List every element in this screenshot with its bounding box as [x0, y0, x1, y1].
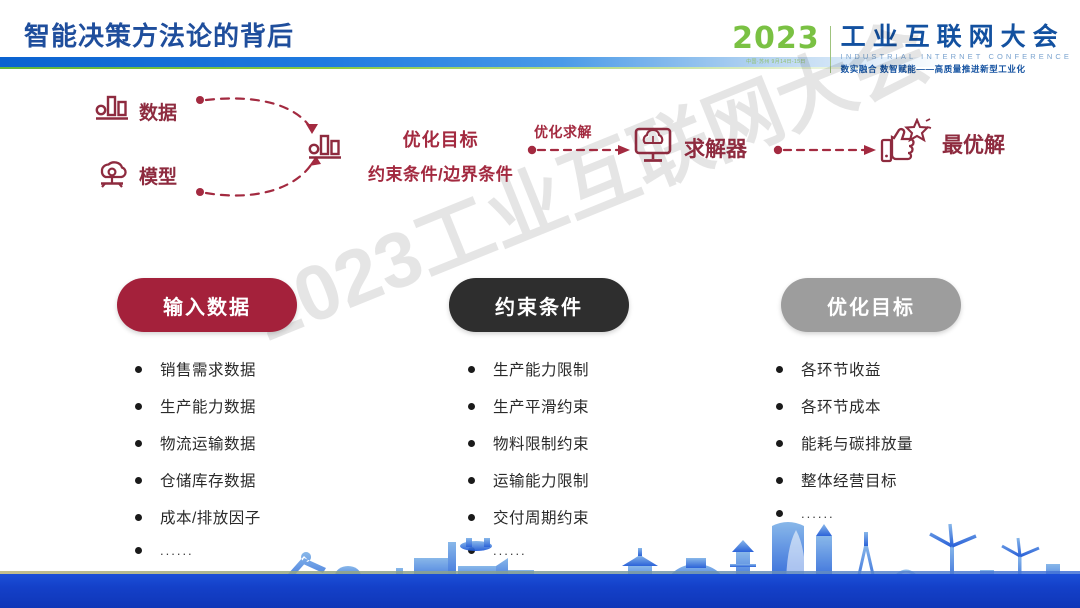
footer-skyline [0, 518, 1080, 608]
model-network-icon [95, 158, 129, 193]
bullet-dot-icon [135, 403, 142, 410]
optimize-solve-label: 优化求解 [534, 122, 592, 142]
skyline-water-band [0, 574, 1080, 608]
list-item: 能耗与碳排放量 [776, 432, 913, 454]
flow-node-model: 模型 [95, 158, 177, 193]
list-item: 各环节收益 [776, 358, 913, 380]
bullet-dot-icon [776, 477, 783, 484]
bullet-dot-icon [776, 510, 783, 517]
conference-logo: 2023 中国·苏州 9月14日-15日 工业互联网大会 INDUSTRIAL … [732, 24, 1072, 75]
logo-text-block: 工业互联网大会 INDUSTRIAL INTERNET CONFERENCE 数… [841, 24, 1072, 75]
bullet-dot-icon [776, 440, 783, 447]
bullet-dot-icon [776, 403, 783, 410]
solve-arrow [526, 140, 634, 160]
list-item: 仓储库存数据 [135, 469, 261, 491]
bullet-dot-icon [468, 403, 475, 410]
list-item: 各环节成本 [776, 395, 913, 417]
bullet-dot-icon [776, 366, 783, 373]
flow-result-label: 最优解 [942, 129, 1005, 159]
list-item-label: 仓储库存数据 [160, 469, 256, 491]
optimization-text-block: 优化目标 约束条件/边界条件 [368, 126, 513, 185]
pill-optimization-goals[interactable]: 优化目标 [781, 278, 961, 332]
list-item-label: 销售需求数据 [160, 358, 256, 380]
list-item-label: 生产能力数据 [160, 395, 256, 417]
list-item-label: 能耗与碳排放量 [801, 432, 913, 454]
flow-node-solver: 求解器 [632, 126, 747, 169]
list-item: 物料限制约束 [468, 432, 589, 454]
result-arrow [772, 140, 880, 160]
list-item: 生产能力数据 [135, 395, 261, 417]
pill-input-data[interactable]: 输入数据 [117, 278, 297, 332]
flow-node-data: 数据 [95, 94, 177, 129]
logo-year: 2023 [732, 24, 820, 54]
bar-chart-icon [308, 133, 342, 168]
list-item: 生产能力限制 [468, 358, 589, 380]
flow-diagram: 数据 模型 [0, 78, 1080, 218]
flow-node-result: 最优解 [880, 118, 1005, 169]
list-item-label: 运输能力限制 [493, 469, 589, 491]
bullet-dot-icon [468, 440, 475, 447]
flow-solver-label: 求解器 [684, 133, 747, 163]
list-item: 运输能力限制 [468, 469, 589, 491]
logo-chinese-name: 工业互联网大会 [841, 24, 1072, 50]
logo-english-name: INDUSTRIAL INTERNET CONFERENCE [841, 52, 1072, 61]
list-item-label: 物料限制约束 [493, 432, 589, 454]
logo-tagline: 数实融合 数智赋能——高质量推进新型工业化 [841, 63, 1072, 75]
list-item-label: 生产平滑约束 [493, 395, 589, 417]
logo-year-block: 2023 中国·苏州 9月14日-15日 [732, 24, 830, 65]
bullet-dot-icon [135, 477, 142, 484]
bullet-dot-icon [135, 440, 142, 447]
list-item: 整体经营目标 [776, 469, 913, 491]
flow-data-label: 数据 [139, 98, 177, 125]
bar-chart-icon [95, 94, 129, 129]
list-item: 销售需求数据 [135, 358, 261, 380]
logo-year-subtitle: 中国·苏州 9月14日-15日 [746, 58, 806, 65]
bullet-dot-icon [468, 477, 475, 484]
monitor-brain-icon [632, 126, 674, 169]
thumbs-up-star-icon [880, 118, 932, 169]
flow-node-merged [308, 133, 342, 168]
bullet-column-optimization-goals: 各环节收益 各环节成本 能耗与碳排放量 整体经营目标 ...... [776, 358, 913, 536]
list-item-label: 各环节成本 [801, 395, 881, 417]
flow-model-label: 模型 [139, 162, 177, 189]
page-title: 智能决策方法论的背后 [24, 16, 294, 53]
bullet-dot-icon [468, 366, 475, 373]
logo-divider [830, 26, 831, 73]
optimization-goal-label: 优化目标 [368, 126, 513, 152]
list-item-label: 物流运输数据 [160, 432, 256, 454]
optimization-constraints-label: 约束条件/边界条件 [368, 160, 513, 185]
pill-constraints[interactable]: 约束条件 [449, 278, 629, 332]
bullet-dot-icon [135, 366, 142, 373]
list-item-label: 生产能力限制 [493, 358, 589, 380]
list-item-label: 各环节收益 [801, 358, 881, 380]
list-item: 物流运输数据 [135, 432, 261, 454]
list-item-label: 整体经营目标 [801, 469, 897, 491]
list-item: 生产平滑约束 [468, 395, 589, 417]
slide-root: 智能决策方法论的背后 2023 中国·苏州 9月14日-15日 工业互联网大会 … [0, 0, 1080, 608]
